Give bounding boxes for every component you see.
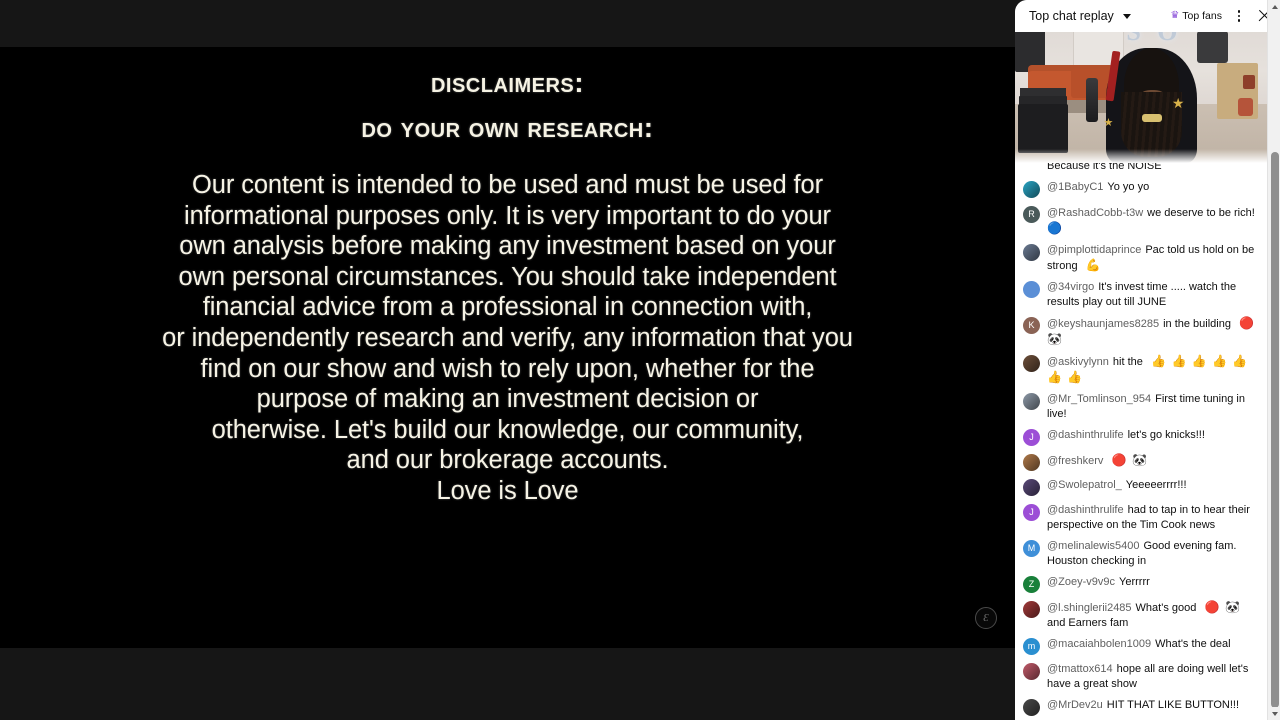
crown-icon: ♛ bbox=[1170, 11, 1179, 21]
avatar-photo bbox=[1023, 699, 1040, 716]
chat-username[interactable]: @tmattox614 bbox=[1047, 663, 1113, 675]
chat-message[interactable]: @freshkerv 🔴 🐼 bbox=[1021, 450, 1262, 475]
chat-message-body: What's the deal bbox=[1155, 638, 1230, 650]
chat-message-text: @tmattox614hope all are doing well let's… bbox=[1047, 662, 1260, 691]
chat-message-body: let's go knicks!!! bbox=[1128, 429, 1205, 441]
webcam-fade bbox=[1015, 149, 1268, 163]
chat-message-body: we deserve to be rich! bbox=[1147, 207, 1255, 219]
disclaimer-line: financial advice from a professional in … bbox=[58, 292, 958, 323]
chat-username[interactable]: @askivylynn bbox=[1047, 356, 1109, 368]
chat-username[interactable]: @keyshaunjames8285 bbox=[1047, 318, 1159, 330]
chat-message-body: HIT THAT LIKE BUTTON!!! bbox=[1107, 699, 1239, 711]
disclaimer-line: informational purposes only. It is very … bbox=[58, 201, 958, 232]
avatar-photo bbox=[1023, 479, 1040, 496]
chat-message[interactable]: @1BabyC1Yo yo yo bbox=[1021, 177, 1262, 202]
chat-message[interactable]: J@dashinthrulifehad to tap in to hear th… bbox=[1021, 500, 1262, 536]
chat-message-body: in the building bbox=[1163, 318, 1231, 330]
triangle-down bbox=[1272, 712, 1278, 716]
chat-message[interactable]: @MrDev2uHIT THAT LIKE BUTTON!!! bbox=[1021, 695, 1262, 720]
chat-message[interactable]: @Mr_Tomlinson_954First time tuning in li… bbox=[1021, 389, 1262, 425]
disclaimer-line: or independently research and verify, an… bbox=[58, 323, 958, 354]
disclaimer-line: own analysis before making any investmen… bbox=[58, 231, 958, 262]
right-equipment bbox=[1197, 31, 1227, 63]
avatar: R bbox=[1023, 206, 1040, 223]
webcam-video-preview[interactable]: S O ★ ★ bbox=[1015, 16, 1268, 163]
avatar bbox=[1023, 281, 1040, 298]
chat-message-emoji: 🔵 bbox=[1047, 221, 1063, 235]
chat-message[interactable]: M@melinalewis5400Good evening fam. Houst… bbox=[1021, 536, 1262, 572]
chat-message-text: @1BabyC1Yo yo yo bbox=[1047, 180, 1260, 195]
chat-message[interactable]: J@dashinthrulifelet's go knicks!!! bbox=[1021, 425, 1262, 450]
chat-message-text: @askivylynnhit the 👍 👍 👍 👍 👍 👍 👍 bbox=[1047, 354, 1260, 385]
chat-message-text: @RashadCobb-t3wwe deserve to be rich! 🔵 bbox=[1047, 205, 1260, 236]
chat-message-body: Yerrrrr bbox=[1119, 576, 1150, 588]
disclaimer-slide: Disclaimers: Do your Own Research: Our c… bbox=[0, 47, 1015, 648]
avatar: m bbox=[1023, 638, 1040, 655]
avatar: Z bbox=[1023, 576, 1040, 593]
kebab-dot bbox=[1238, 15, 1241, 18]
channel-watermark-icon: Ɛ bbox=[975, 607, 997, 629]
disclaimer-line: own personal circumstances. You should t… bbox=[58, 262, 958, 293]
chat-username[interactable]: @pimplottidaprince bbox=[1047, 244, 1141, 256]
chat-message-body: Yo yo yo bbox=[1107, 181, 1149, 193]
chat-message[interactable]: @tmattox614hope all are doing well let's… bbox=[1021, 659, 1262, 695]
chat-message[interactable]: @Swolepatrol_Yeeeeerrrr!!! bbox=[1021, 475, 1262, 500]
chat-message-body: hit the bbox=[1113, 356, 1143, 368]
avatar-photo bbox=[1023, 454, 1040, 471]
avatar: J bbox=[1023, 429, 1040, 446]
webcam-scene: S O ★ ★ bbox=[1015, 16, 1268, 163]
top-fans-badge[interactable]: ♛ Top fans bbox=[1170, 10, 1222, 22]
chat-message-text: @macaiahbolen1009What's the deal bbox=[1047, 637, 1260, 652]
disclaimer-heading-1: Disclaimers: bbox=[431, 69, 584, 97]
chat-username[interactable]: @macaiahbolen1009 bbox=[1047, 638, 1151, 650]
avatar-photo bbox=[1023, 393, 1040, 410]
chat-message-text: @freshkerv 🔴 🐼 bbox=[1047, 453, 1260, 469]
chat-message-emoji: 💪 bbox=[1082, 258, 1102, 272]
scroll-up-arrow-icon[interactable] bbox=[1268, 0, 1280, 13]
chat-message-text: @l.shinglerii2485What's good 🔴 🐼 and Ear… bbox=[1047, 600, 1260, 630]
kebab-menu-icon[interactable] bbox=[1232, 10, 1246, 22]
chat-message-body: and Earners fam bbox=[1047, 617, 1128, 629]
avatar-photo bbox=[1023, 355, 1040, 372]
shelf-bottle bbox=[1243, 75, 1256, 90]
chat-message[interactable]: @askivylynnhit the 👍 👍 👍 👍 👍 👍 👍 bbox=[1021, 351, 1262, 389]
disclaimer-heading-2: Do your Own Research: bbox=[361, 114, 653, 142]
kebab-dot bbox=[1238, 10, 1241, 13]
live-chat-panel[interactable]: Top chat replay ♛ Top fans S O bbox=[1015, 0, 1280, 720]
avatar-photo bbox=[1023, 601, 1040, 618]
chevron-down-icon[interactable] bbox=[1123, 14, 1131, 19]
disclaimer-body: Our content is intended to be used and m… bbox=[58, 170, 958, 507]
disclaimer-line: purpose of making an investment decision… bbox=[58, 384, 958, 415]
avatar-photo bbox=[1023, 244, 1040, 261]
chat-username[interactable]: @freshkerv bbox=[1047, 455, 1103, 467]
microphone bbox=[1086, 78, 1099, 122]
video-surface[interactable]: Disclaimers: Do your Own Research: Our c… bbox=[0, 47, 1015, 648]
top-fans-label: Top fans bbox=[1182, 10, 1222, 22]
chat-username[interactable]: @Swolepatrol_ bbox=[1047, 479, 1122, 491]
chat-message-emoji: 🔴 🐼 bbox=[1200, 600, 1241, 614]
app-root: Disclaimers: Do your Own Research: Our c… bbox=[0, 0, 1280, 720]
chat-mode-label[interactable]: Top chat replay bbox=[1029, 9, 1114, 23]
chat-scrollbar[interactable] bbox=[1267, 0, 1280, 720]
chat-header: Top chat replay ♛ Top fans bbox=[1015, 0, 1280, 32]
kebab-dot bbox=[1238, 19, 1241, 22]
watermark-glyph: Ɛ bbox=[983, 612, 988, 624]
chat-message[interactable]: @34virgoIt's invest time ..... watch the… bbox=[1021, 277, 1262, 313]
stacked-boxes bbox=[1018, 104, 1069, 153]
scroll-down-arrow-icon[interactable] bbox=[1268, 707, 1280, 720]
avatar: K bbox=[1023, 317, 1040, 334]
chat-message[interactable]: K@keyshaunjames8285in the building 🔴 🐼 bbox=[1021, 313, 1262, 351]
chat-username[interactable]: @l.shinglerii2485 bbox=[1047, 602, 1132, 614]
disclaimer-line: Our content is intended to be used and m… bbox=[58, 170, 958, 201]
chat-message-text: @Zoey-v9v9cYerrrrr bbox=[1047, 575, 1260, 590]
chat-username[interactable]: @dashinthrulife bbox=[1047, 429, 1124, 441]
chat-message[interactable]: m@macaiahbolen1009What's the deal bbox=[1021, 634, 1262, 659]
chat-message-body: What's good bbox=[1136, 602, 1197, 614]
avatar: J bbox=[1023, 504, 1040, 521]
chat-message[interactable]: Z@Zoey-v9v9cYerrrrr bbox=[1021, 572, 1262, 597]
chat-message-emoji: 🔴 🐼 bbox=[1107, 453, 1148, 467]
chat-message-text: @Swolepatrol_Yeeeeerrrr!!! bbox=[1047, 478, 1260, 493]
avatar: M bbox=[1023, 540, 1040, 557]
chat-username[interactable]: @34virgo bbox=[1047, 281, 1094, 293]
streamer-chain bbox=[1142, 114, 1162, 121]
chat-message-text: @keyshaunjames8285in the building 🔴 🐼 bbox=[1047, 316, 1260, 347]
avatar-photo bbox=[1023, 181, 1040, 198]
chat-username[interactable]: @1BabyC1 bbox=[1047, 181, 1103, 193]
jacket-star-icon: ★ bbox=[1104, 116, 1114, 129]
disclaimer-line: find on our show and wish to rely upon, … bbox=[58, 354, 958, 385]
triangle-up bbox=[1272, 5, 1278, 9]
chat-message-text: @melinalewis5400Good evening fam. Housto… bbox=[1047, 539, 1260, 568]
chat-username[interactable]: @melinalewis5400 bbox=[1047, 540, 1140, 552]
video-player[interactable]: Disclaimers: Do your Own Research: Our c… bbox=[0, 0, 1015, 720]
disclaimer-line: otherwise. Let's build our knowledge, ou… bbox=[58, 415, 958, 446]
chat-message-text: @dashinthrulifehad to tap in to hear the… bbox=[1047, 503, 1260, 532]
chat-username[interactable]: @Zoey-v9v9c bbox=[1047, 576, 1115, 588]
chat-message-text: @dashinthrulifelet's go knicks!!! bbox=[1047, 428, 1260, 443]
chat-username[interactable]: @dashinthrulife bbox=[1047, 504, 1124, 516]
chat-message-text: @34virgoIt's invest time ..... watch the… bbox=[1047, 280, 1260, 309]
chat-message-text: @pimplottidaprincePac told us hold on be… bbox=[1047, 243, 1260, 273]
chat-username[interactable]: @MrDev2u bbox=[1047, 699, 1103, 711]
shelf-bottle-2 bbox=[1238, 98, 1253, 116]
chat-message-text: @Mr_Tomlinson_954First time tuning in li… bbox=[1047, 392, 1260, 421]
chat-username[interactable]: @RashadCobb-t3w bbox=[1047, 207, 1143, 219]
chat-message[interactable]: @l.shinglerii2485What's good 🔴 🐼 and Ear… bbox=[1021, 597, 1262, 634]
chat-message-body: Yeeeeerrrr!!! bbox=[1126, 479, 1187, 491]
avatar-photo bbox=[1023, 663, 1040, 680]
jacket-star-icon: ★ bbox=[1172, 95, 1185, 112]
chat-username[interactable]: @Mr_Tomlinson_954 bbox=[1047, 393, 1151, 405]
chat-message[interactable]: R@RashadCobb-t3wwe deserve to be rich! 🔵 bbox=[1021, 202, 1262, 240]
scroll-thumb[interactable] bbox=[1271, 152, 1279, 708]
disclaimer-closing-line: Love is Love bbox=[58, 476, 958, 507]
disclaimer-line: and our brokerage accounts. bbox=[58, 445, 958, 476]
chat-message[interactable]: @pimplottidaprincePac told us hold on be… bbox=[1021, 240, 1262, 277]
chat-message-text: @MrDev2uHIT THAT LIKE BUTTON!!! bbox=[1047, 698, 1260, 713]
